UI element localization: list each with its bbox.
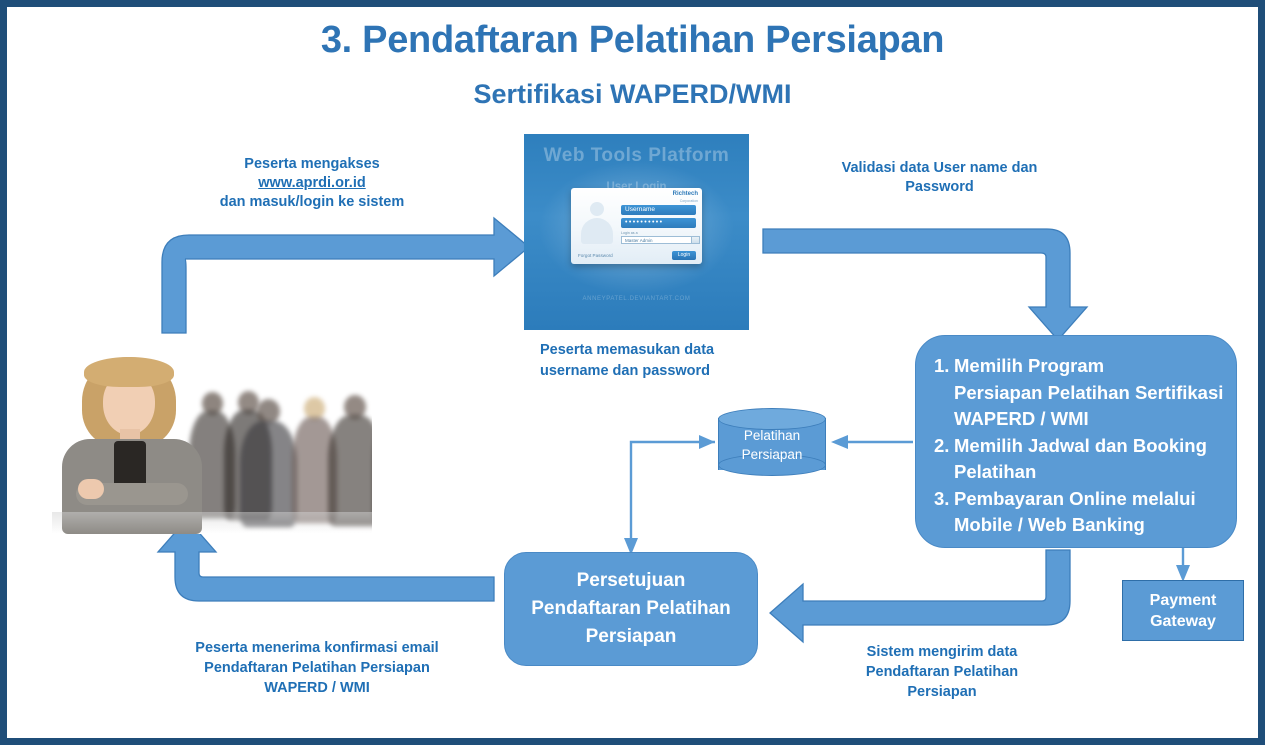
- payment-line1: Payment: [1150, 592, 1217, 609]
- payment-gateway-box: Payment Gateway: [1122, 580, 1244, 641]
- caption-access-line1: Peserta mengakses: [192, 155, 432, 174]
- caption-email-line3: WAPERD / WMI: [162, 678, 472, 698]
- approval-text: Persetujuan Pendaftaran Pelatihan Persia…: [531, 567, 731, 651]
- diagram-canvas: 3. Pendaftaran Pelatihan Persiapan Serti…: [0, 0, 1265, 745]
- arrow-steps-approval: [770, 550, 1070, 642]
- approval-line1: Persetujuan: [577, 570, 686, 591]
- database-line1: Pelatihan: [744, 428, 800, 443]
- payment-line2: Gateway: [1150, 613, 1216, 630]
- steps-box: 1. Memilih Program Persiapan Pelatihan S…: [915, 335, 1237, 548]
- page-subtitle: Sertifikasi WAPERD/WMI: [7, 79, 1258, 110]
- page-title: 3. Pendaftaran Pelatihan Persiapan: [7, 19, 1258, 62]
- chevron-down-icon: [691, 237, 699, 243]
- aprdi-url-link[interactable]: www.aprdi.or.id: [192, 174, 432, 193]
- database-label: Pelatihan Persiapan: [718, 426, 826, 464]
- image-watermark: ANNEYPATEL.DEVIANTART.COM: [524, 296, 749, 302]
- login-button[interactable]: Login: [672, 251, 696, 260]
- step-1-text: Memilih Program Persiapan Pelatihan Sert…: [954, 353, 1223, 433]
- participants-photo: [52, 349, 372, 534]
- login-as-select[interactable]: Master Admin: [621, 236, 700, 244]
- database-pelatihan-persiapan: Pelatihan Persiapan: [718, 408, 826, 478]
- caption-validate-line2: Password: [802, 178, 1077, 197]
- caption-access: Peserta mengakses www.aprdi.or.id dan ma…: [192, 155, 432, 212]
- login-card: Richtech Corporation Username ••••••••••…: [571, 188, 702, 264]
- caption-validate: Validasi data User name dan Password: [802, 159, 1077, 197]
- arrow-platform-steps: [763, 229, 1087, 340]
- connector-db-in-arrowhead: [699, 435, 715, 449]
- caption-send-line2: Pendaftaran Pelatihan: [842, 662, 1042, 682]
- approval-line2: Pendaftaran Pelatihan: [531, 598, 731, 619]
- step-2-text: Memilih Jadwal dan Booking Pelatihan: [954, 433, 1207, 486]
- step-item-1: 1. Memilih Program Persiapan Pelatihan S…: [934, 353, 1226, 433]
- step-3-text: Pembayaran Online melalui Mobile / Web B…: [954, 486, 1196, 539]
- caption-login-line1: Peserta memasukan data: [540, 340, 760, 361]
- brand-sub: Corporation: [673, 198, 698, 205]
- platform-heading: Web Tools Platform: [524, 145, 749, 167]
- approval-box: Persetujuan Pendaftaran Pelatihan Persia…: [504, 552, 758, 666]
- caption-email-confirm: Peserta menerima konfirmasi email Pendaf…: [162, 638, 472, 698]
- payment-text: Payment Gateway: [1150, 590, 1217, 632]
- photo-floor-reflection: [52, 512, 372, 534]
- username-input[interactable]: Username: [621, 205, 696, 215]
- connector-db-approval: [631, 442, 715, 540]
- brand-name: Richtech: [673, 191, 698, 197]
- step-item-3: 3. Pembayaran Online melalui Mobile / We…: [934, 486, 1226, 539]
- login-as-label: Login as a: [621, 231, 638, 235]
- step-3-number: 3.: [934, 486, 954, 539]
- step-1-number: 1.: [934, 353, 954, 433]
- caption-send-line1: Sistem mengirim data: [842, 642, 1042, 662]
- foreground-person: [62, 357, 202, 534]
- caption-send-line3: Persiapan: [842, 682, 1042, 702]
- step-item-2: 2. Memilih Jadwal dan Booking Pelatihan: [934, 433, 1226, 486]
- step-2-number: 2.: [934, 433, 954, 486]
- password-input[interactable]: ••••••••••: [621, 218, 696, 228]
- user-avatar-icon: [579, 202, 615, 246]
- caption-login-line2: username dan password: [540, 361, 760, 382]
- caption-login-entry: Peserta memasukan data username dan pass…: [540, 340, 760, 382]
- web-tools-platform-image: Web Tools Platform User Login Richtech C…: [524, 134, 749, 330]
- caption-access-line3: dan masuk/login ke sistem: [192, 193, 432, 212]
- caption-email-line1: Peserta menerima konfirmasi email: [162, 638, 472, 658]
- database-line2: Persiapan: [742, 447, 803, 462]
- caption-system-send: Sistem mengirim data Pendaftaran Pelatih…: [842, 642, 1042, 702]
- caption-validate-line1: Validasi data User name dan: [802, 159, 1077, 178]
- approval-line3: Persiapan: [586, 626, 677, 647]
- brand-logo: Richtech Corporation: [673, 191, 698, 205]
- login-as-value: Master Admin: [625, 238, 653, 243]
- steps-list: 1. Memilih Program Persiapan Pelatihan S…: [934, 353, 1226, 539]
- forgot-password-link[interactable]: Forgot Password: [578, 253, 613, 258]
- arrow-access-platform: [162, 218, 529, 333]
- connector-steps-db-arrowhead: [831, 435, 848, 449]
- caption-email-line2: Pendaftaran Pelatihan Persiapan: [162, 658, 472, 678]
